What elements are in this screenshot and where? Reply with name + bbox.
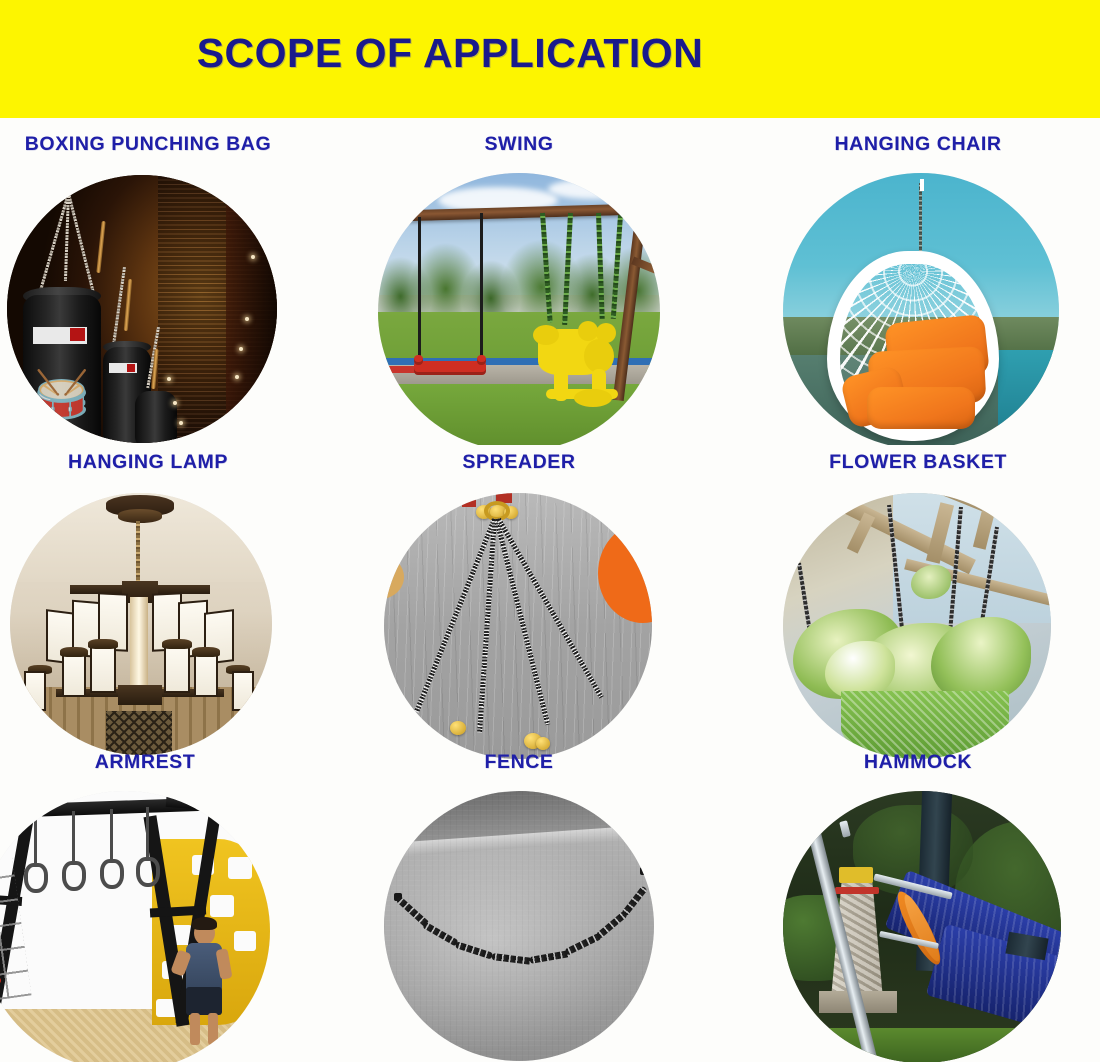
photo-wrap-spreader [336,491,702,763]
spreader-chain-icon [384,493,652,759]
photo-wrap-armrest [0,791,328,1062]
flower-basket-icon [783,493,1051,759]
cell-label-hanging-chair: HANGING CHAIR [735,133,1100,156]
hammock-icon [783,791,1061,1062]
page-title: SCOPE OF APPLICATION [0,30,900,77]
swing-icon [378,173,660,445]
cell-label-fence: FENCE [336,751,702,774]
photo-wrap-flower-basket [735,491,1100,763]
cell-label-swing: SWING [336,133,702,156]
fence-chain-icon [384,791,654,1061]
cell-label-hanging-lamp: HANGING LAMP [0,451,331,474]
chandelier-icon [10,493,272,755]
photo-wrap-fence [336,791,702,1062]
cell-label-boxing-punching-bag: BOXING PUNCHING BAG [0,133,331,156]
cell-label-flower-basket: FLOWER BASKET [735,451,1100,474]
page-banner: SCOPE OF APPLICATION [0,0,1100,118]
application-grid: BOXING PUNCHING BAG [0,118,1100,1062]
photo-wrap-hanging-lamp [0,491,331,763]
photo-wrap-boxing-punching-bag: 🥁 [0,173,331,445]
cell-label-hammock: HAMMOCK [735,751,1100,774]
scope-of-application-page: SCOPE OF APPLICATION BOXING PUNCHING BAG [0,0,1100,1062]
photo-wrap-hanging-chair [735,173,1100,445]
hanging-chair-icon [783,173,1059,445]
punching-bag-icon: 🥁 [7,175,277,443]
cell-label-spreader: SPREADER [336,451,702,474]
cell-label-armrest: ARMREST [0,751,328,774]
photo-wrap-swing [336,173,702,445]
photo-wrap-hammock [735,791,1100,1062]
playground-frame-icon [0,791,270,1062]
